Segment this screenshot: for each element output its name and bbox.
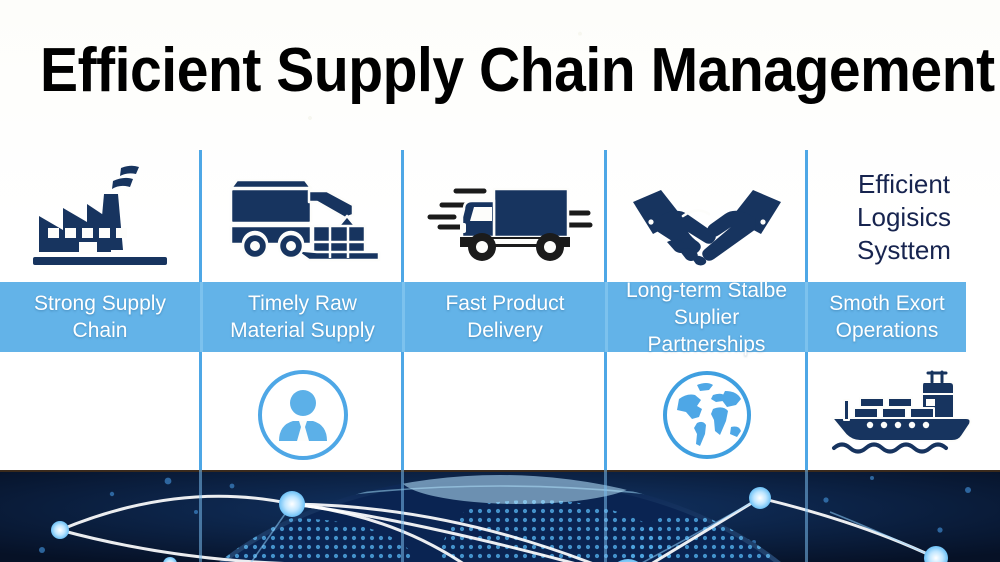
logistics-text-line-2: Logisics [808,201,1000,234]
logistics-text-block: Efficient Logisics Systtem [808,168,1000,267]
page-title: Efficient Supply Chain Management [40,36,960,106]
band-label-col1: Strong Supply Chain [0,282,200,352]
band-label-col3-line2: Delivery [467,319,543,342]
band-label-col5-line2: Operations [836,319,939,342]
band-label-col5: Smoth Exort Operations [808,282,966,352]
cargo-ship-icon [808,360,1000,470]
band-label-col2: Timely Raw Material Supply [203,282,402,352]
infographic-poster: Efficient Supply Chain Management [0,0,1000,562]
logistics-text-line-3: Systtem [808,234,1000,267]
handshake-icon [608,160,805,278]
label-band: Strong Supply Chain Timely Raw Material … [0,282,966,352]
logistics-text-line-1: Efficient [808,168,1000,201]
band-label-col3: Fast Product Delivery [405,282,605,352]
globe-circle-icon [608,360,805,470]
band-label-col5-line1: Smoth Exort [829,292,945,315]
column-divider-2-dark [401,470,404,562]
column-divider-1-dark [199,470,202,562]
band-label-col2-line1: Timely Raw [248,292,357,315]
band-label-col2-line2: Material Supply [230,319,375,342]
column-divider-4-dark [805,470,808,562]
global-network-graphic [0,470,1000,562]
businessperson-circle-icon [203,360,402,470]
band-label-col1-line2: Chain [73,319,128,342]
band-label-col4: Long-term Stalbe Suplier Partnerships [608,282,805,352]
band-label-col3-line1: Fast Product [445,292,564,315]
band-label-col4-line1: Long-term Stalbe [626,279,787,302]
column-divider-3-dark [604,470,607,562]
band-label-col4-line2: Suplier Partnerships [648,306,766,356]
delivery-truck-icon [405,160,605,278]
crane-truck-loading-icon [203,160,402,278]
factory-icon [0,160,200,278]
band-label-col1-line1: Strong Supply [34,292,166,315]
